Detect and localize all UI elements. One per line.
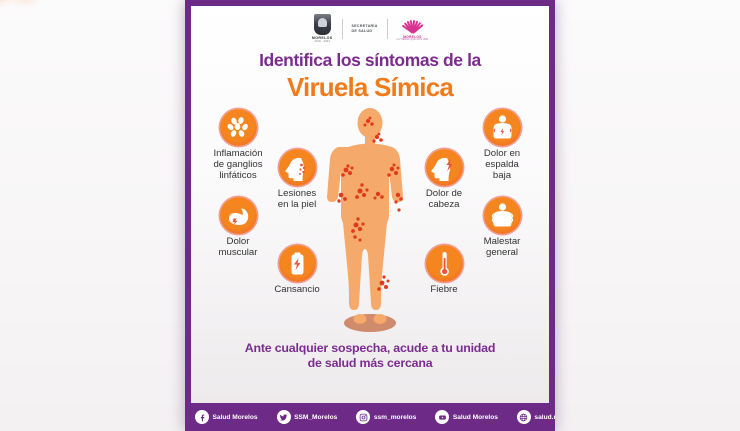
social-twitter[interactable]: SSM_Morelos <box>277 410 338 424</box>
social-website[interactable]: salud.morelos.gob.mx <box>517 410 555 424</box>
globe-icon <box>517 410 531 424</box>
headline-line2: Viruela Símica <box>191 72 549 103</box>
symptom-label-fiebre: Fiebre <box>397 285 491 296</box>
twitter-icon <box>277 410 291 424</box>
seal-sublabel: 2018 - 2024 <box>314 40 330 43</box>
social-handle-youtube: Salud Morelos <box>453 414 498 421</box>
morelos-state-seal-icon <box>314 14 331 35</box>
head-skin-lesions-icon <box>279 149 316 186</box>
logo-divider <box>342 19 343 39</box>
morelos-brand-logo: MORELOS LA TIERRA QUE NOS UNE <box>397 17 428 41</box>
thermometer-icon <box>426 245 463 282</box>
social-handle-instagram: ssm_morelos <box>374 414 417 421</box>
lymph-nodes-icon <box>220 109 257 146</box>
symptom-stage: Inflamaciónde ganglioslinfáticos Lesione… <box>191 107 549 339</box>
logo-divider-2 <box>387 19 388 39</box>
secretaria-line2: DE SALUD <box>352 29 378 33</box>
social-instagram[interactable]: ssm_morelos <box>356 410 416 424</box>
social-footer-bar: Salud Morelos SSM_Morelos ssm_morelos Sa… <box>185 403 555 431</box>
infographic-sheet: MORELOS 2018 - 2024 SECRETARÍA DE SALUD … <box>191 6 549 404</box>
background-label-right: Dolor enespaldabaja <box>680 425 740 431</box>
human-body-with-rash <box>322 107 418 335</box>
headline: Identifica los síntomas de la Viruela Sí… <box>191 50 549 103</box>
infographic-card: MORELOS 2018 - 2024 SECRETARÍA DE SALUD … <box>185 0 555 431</box>
morelos-state-seal-logo: MORELOS 2018 - 2024 <box>312 14 333 44</box>
flexed-arm-icon <box>220 197 257 234</box>
symptom-fiebre[interactable]: Fiebre <box>397 245 491 296</box>
brand-sublabel: LA TIERRA QUE NOS UNE <box>397 39 428 41</box>
facebook-icon <box>195 410 209 424</box>
social-youtube[interactable]: Salud Morelos <box>435 410 498 424</box>
logo-row: MORELOS 2018 - 2024 SECRETARÍA DE SALUD … <box>191 6 549 42</box>
call-to-action: Ante cualquier sospecha, acude a tu unid… <box>191 341 549 372</box>
battery-low-icon <box>279 245 316 282</box>
symptom-label-cansancio: Cansancio <box>250 285 344 296</box>
cta-line2: de salud más cercana <box>191 356 549 371</box>
symptom-cansancio[interactable]: Cansancio <box>250 245 344 296</box>
social-facebook[interactable]: Salud Morelos <box>195 410 258 424</box>
secretaria-de-salud-logo: SECRETARÍA DE SALUD <box>352 24 378 33</box>
lower-back-pain-icon <box>484 109 521 146</box>
instagram-icon <box>356 410 370 424</box>
background-title-line2: Vi <box>0 0 32 11</box>
headache-icon <box>426 149 463 186</box>
headline-line1: Identifica los síntomas de la <box>191 50 549 71</box>
social-handle-website: salud.morelos.gob.mx <box>534 414 555 421</box>
social-handle-twitter: SSM_Morelos <box>294 414 337 421</box>
cta-line1: Ante cualquier sospecha, acude a tu unid… <box>191 341 549 356</box>
social-handle-facebook: Salud Morelos <box>213 414 258 421</box>
youtube-icon <box>435 410 449 424</box>
general-malaise-icon <box>484 197 521 234</box>
secretaria-line1: SECRETARÍA <box>352 24 378 28</box>
fan-burst-icon <box>402 17 423 34</box>
